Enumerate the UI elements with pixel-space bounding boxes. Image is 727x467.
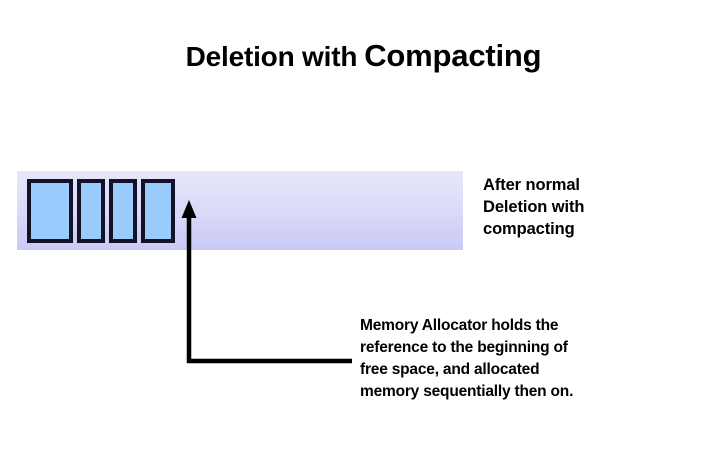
memory-allocator-note-line: reference to the beginning of xyxy=(360,337,660,359)
memory-allocator-note-line: memory sequentially then on. xyxy=(360,381,660,403)
page-title-part-1: Deletion with xyxy=(186,41,358,72)
memory-allocator-note-line: Memory Allocator holds the xyxy=(360,315,660,337)
after-deletion-label: After normal Deletion with compacting xyxy=(483,174,713,240)
after-deletion-label-line: compacting xyxy=(483,218,713,240)
memory-allocator-note: Memory Allocator holds the reference to … xyxy=(360,315,660,403)
page-title: Deletion withCompacting xyxy=(0,40,727,71)
memory-region-bar xyxy=(17,171,463,250)
memory-block-4 xyxy=(141,179,175,243)
slide-canvas: Deletion withCompacting After normal Del… xyxy=(0,0,727,467)
after-deletion-label-line: After normal xyxy=(483,174,713,196)
after-deletion-label-line: Deletion with xyxy=(483,196,713,218)
memory-block-2 xyxy=(77,179,105,243)
memory-allocator-note-line: free space, and allocated xyxy=(360,359,660,381)
memory-block-3 xyxy=(109,179,137,243)
memory-block-1 xyxy=(27,179,73,243)
page-title-part-2: Compacting xyxy=(364,38,541,73)
